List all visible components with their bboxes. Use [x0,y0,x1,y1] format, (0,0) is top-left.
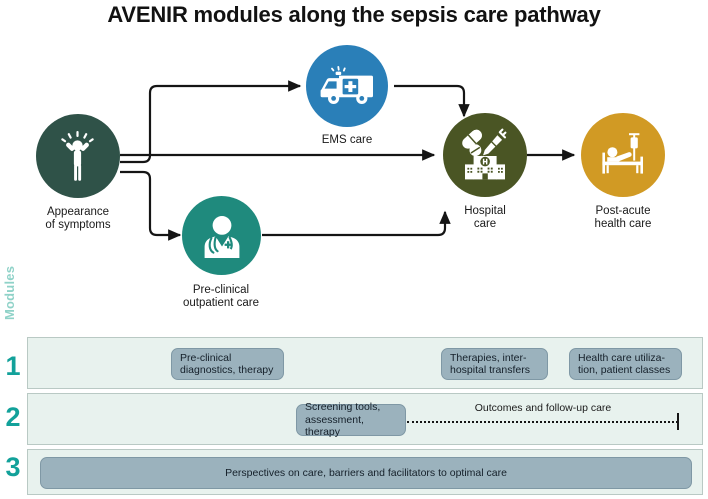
hospital-bed-iv-icon [595,131,651,179]
node-circle-postacute [581,113,665,197]
node-hospital-care[interactable]: Hospital care [443,113,527,197]
node-ems-care[interactable]: EMS care [306,45,388,127]
outcomes-line-end-cap [677,413,679,430]
node-circle-ems [306,45,388,127]
doctor-stethoscope-icon [198,213,246,259]
node-label-preclinical: Pre-clinical outpatient care [154,284,288,310]
node-label-ems: EMS care [282,134,412,147]
node-label-postacute: Post-acute health care [557,205,689,231]
edge-symptoms-to-ems [120,86,300,162]
edge-preclinical-to-hospital [262,212,445,235]
node-label-hospital: Hospital care [419,205,551,231]
person-distress-icon [55,131,101,181]
module-pill-health-care-utilization[interactable]: Health care utiliza- tion, patient class… [569,348,682,380]
node-preclinical-outpatient-care[interactable]: Pre-clinical outpatient care [182,196,261,275]
module-pill-preclinical-diagnostics[interactable]: Pre-clinical diagnostics, therapy [171,348,284,380]
ambulance-icon [319,66,375,106]
sepsis-care-pathway-diagram: Appearance of symptoms [0,0,708,330]
node-post-acute-health-care[interactable]: Post-acute health care [581,113,665,197]
hospital-medication-icon [456,126,514,184]
module-row-number-1: 1 [2,353,24,380]
module-band-1: Pre-clinical diagnostics, therapy Therap… [27,337,703,389]
module-pill-perspectives-on-care[interactable]: Perspectives on care, barriers and facil… [40,457,692,489]
outcomes-dotted-line [407,421,678,423]
node-circle-symptoms [36,114,120,198]
module-annotation-outcomes: Outcomes and follow-up care [448,402,638,414]
module-row-number-2: 2 [2,404,24,431]
node-circle-preclinical [182,196,261,275]
edge-ems-to-hospital [394,86,464,116]
module-pill-screening-tools[interactable]: Screening tools, assessment, therapy [296,404,406,436]
node-circle-hospital [443,113,527,197]
node-label-symptoms: Appearance of symptoms [12,206,144,232]
node-appearance-of-symptoms[interactable]: Appearance of symptoms [36,114,120,198]
modules-rail-label: Modules [2,258,22,328]
module-band-3: Perspectives on care, barriers and facil… [27,449,703,495]
module-band-2: Screening tools, assessment, therapy Out… [27,393,703,445]
module-row-number-3: 3 [2,454,24,481]
module-pill-therapies-transfers[interactable]: Therapies, inter- hospital transfers [441,348,548,380]
